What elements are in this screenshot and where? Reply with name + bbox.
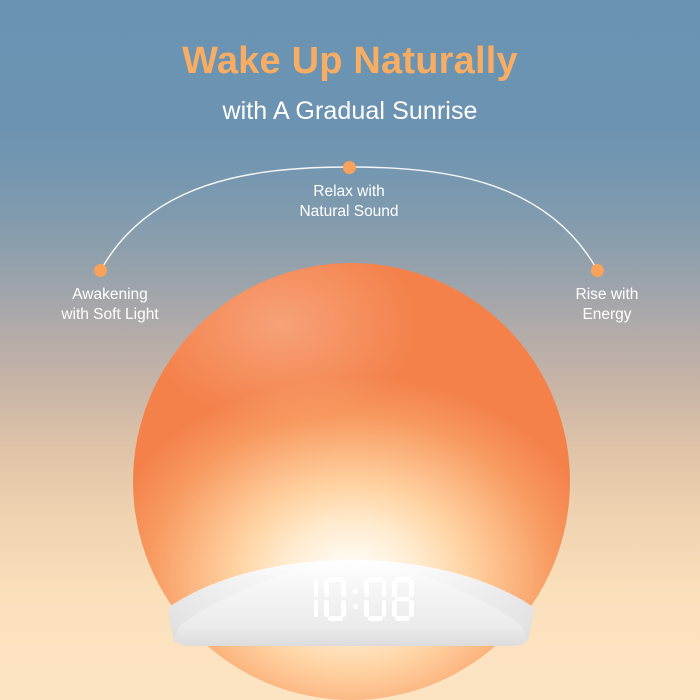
- callout-dot-relax: [343, 161, 356, 174]
- callout-dot-awakening: [94, 264, 107, 277]
- callout-line-2: Natural Sound: [259, 202, 439, 222]
- clock-digit-minute-tens: [364, 577, 387, 621]
- page-subtitle: with A Gradual Sunrise: [0, 97, 700, 126]
- callout-label-relax: Relax with Natural Sound: [259, 182, 439, 223]
- page-title: Wake Up Naturally: [0, 42, 700, 82]
- led-clock-display: [296, 576, 414, 622]
- callout-line-1: Rise with: [517, 285, 697, 305]
- product-marketing-banner: Wake Up Naturally with A Gradual Sunrise: [0, 0, 700, 700]
- clock-colon: [351, 577, 359, 621]
- clock-digit-hour-ones: [324, 577, 347, 621]
- callout-label-awakening: Awakening with Soft Light: [20, 285, 200, 326]
- callout-line-1: Relax with: [259, 182, 439, 202]
- callout-line-1: Awakening: [20, 285, 200, 305]
- callout-dot-rise: [591, 264, 604, 277]
- callout-label-rise: Rise with Energy: [517, 285, 697, 326]
- callout-line-2: with Soft Light: [20, 305, 200, 325]
- callout-line-2: Energy: [517, 305, 697, 325]
- clock-digit-hour-tens: [296, 577, 319, 621]
- clock-digit-minute-ones: [391, 577, 414, 621]
